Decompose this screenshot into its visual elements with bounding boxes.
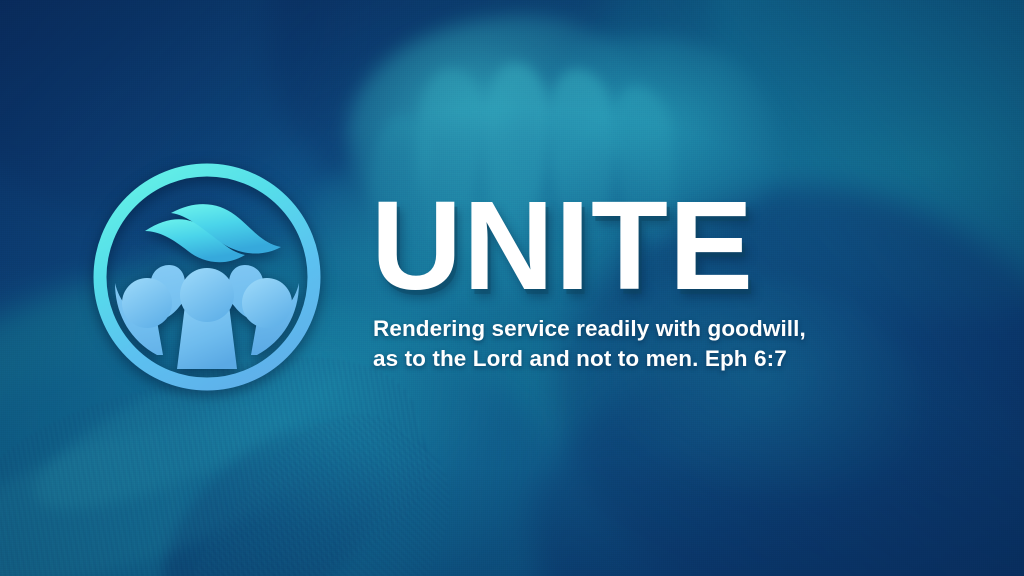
- unite-slide: UNITE Rendering service readily with goo…: [0, 0, 1024, 576]
- headline-unite: UNITE: [371, 192, 931, 300]
- unite-logo-icon: [85, 155, 329, 399]
- tagline: Rendering service readily with goodwill,…: [373, 314, 893, 373]
- tagline-line-2: as to the Lord and not to men. Eph 6:7: [373, 344, 893, 373]
- three-figures-group: [115, 265, 299, 369]
- flame-swoosh-group: [145, 204, 281, 262]
- text-block: UNITE Rendering service readily with goo…: [371, 192, 931, 373]
- tagline-line-1: Rendering service readily with goodwill,: [373, 314, 893, 343]
